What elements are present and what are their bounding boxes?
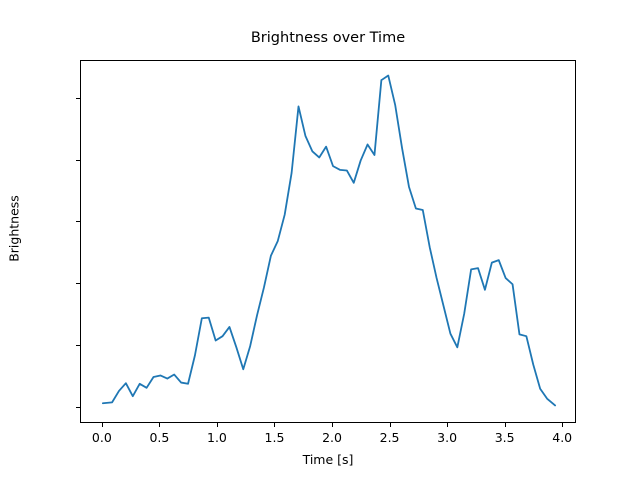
data-line-svg [81,61,577,424]
x-tick-label: 3.0 [437,430,457,445]
x-tick-label: 4.0 [552,430,572,445]
x-tick-label: 0.0 [92,430,112,445]
brightness-series-line [103,76,555,406]
x-tick-label: 2.5 [380,430,400,445]
x-tick-label: 2.0 [322,430,342,445]
x-tick-label: 1.5 [265,430,285,445]
x-tick-label: 0.5 [149,430,169,445]
matplotlib-figure: Brightness over Time Brightness Time [s]… [0,0,640,480]
x-tick-label: 3.5 [495,430,515,445]
x-tick-label: 1.0 [207,430,227,445]
plot-area [80,60,576,423]
